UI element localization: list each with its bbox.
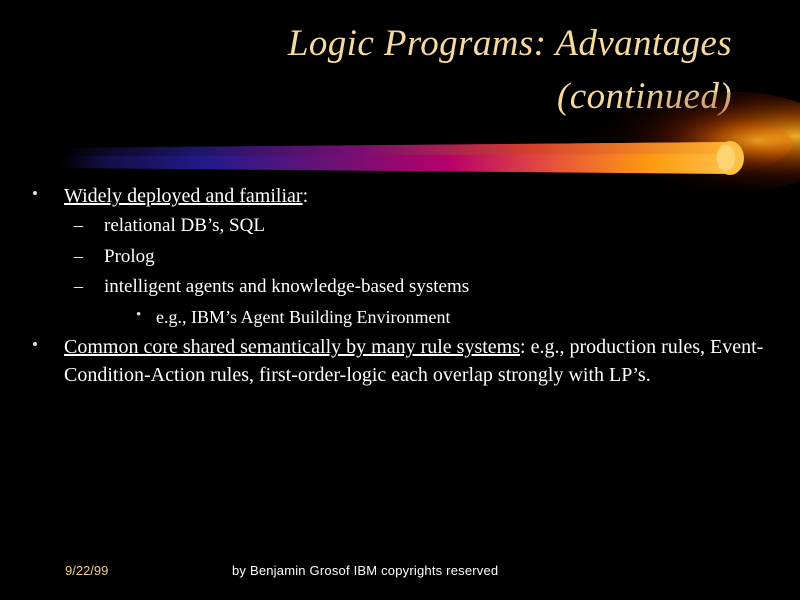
bullet-text: e.g., IBM’s Agent Building Environment <box>156 307 451 327</box>
bullet-dot-icon: • <box>136 304 141 327</box>
title-line-1: Logic Programs: Advantages <box>60 18 740 71</box>
slide-footer: 9/22/99 by Benjamin Grosof IBM copyright… <box>0 563 800 591</box>
footer-date: 9/22/99 <box>65 563 108 578</box>
bullet-text: Prolog <box>104 246 155 267</box>
bullet-text: relational DB’s, SQL <box>104 215 265 236</box>
bullet-level3-item: •e.g., IBM’s Agent Building Environment <box>22 304 778 331</box>
bullet-level2-item: –intelligent agents and knowledge-based … <box>22 273 778 302</box>
footer-credit: by Benjamin Grosof IBM copyrights reserv… <box>232 563 498 578</box>
slide-body: •Widely deployed and familiar: –relation… <box>22 182 778 392</box>
dash-icon: – <box>74 273 83 300</box>
slide: Logic Programs: Advantages (continued) <box>0 0 800 600</box>
slide-title: Logic Programs: Advantages (continued) <box>60 18 740 123</box>
bullet-text: intelligent agents and knowledge-based s… <box>104 276 469 297</box>
bullet-trailing-text: : <box>303 185 309 207</box>
bullet-underlined-text: Widely deployed and familiar <box>64 185 303 207</box>
bullet-underlined-text: Common core shared semantically by many … <box>64 336 520 358</box>
dash-icon: – <box>74 243 83 270</box>
bullet-dot-icon: • <box>32 333 38 357</box>
bullet-level2-item: –relational DB’s, SQL <box>22 212 778 241</box>
bullet-dot-icon: • <box>32 182 38 206</box>
bullet-level1-item: •Common core shared semantically by many… <box>22 333 778 390</box>
title-line-2: (continued) <box>60 71 740 124</box>
dash-icon: – <box>74 212 83 239</box>
bullet-level1-item: •Widely deployed and familiar: <box>22 182 778 210</box>
bullet-level2-item: –Prolog <box>22 243 778 272</box>
